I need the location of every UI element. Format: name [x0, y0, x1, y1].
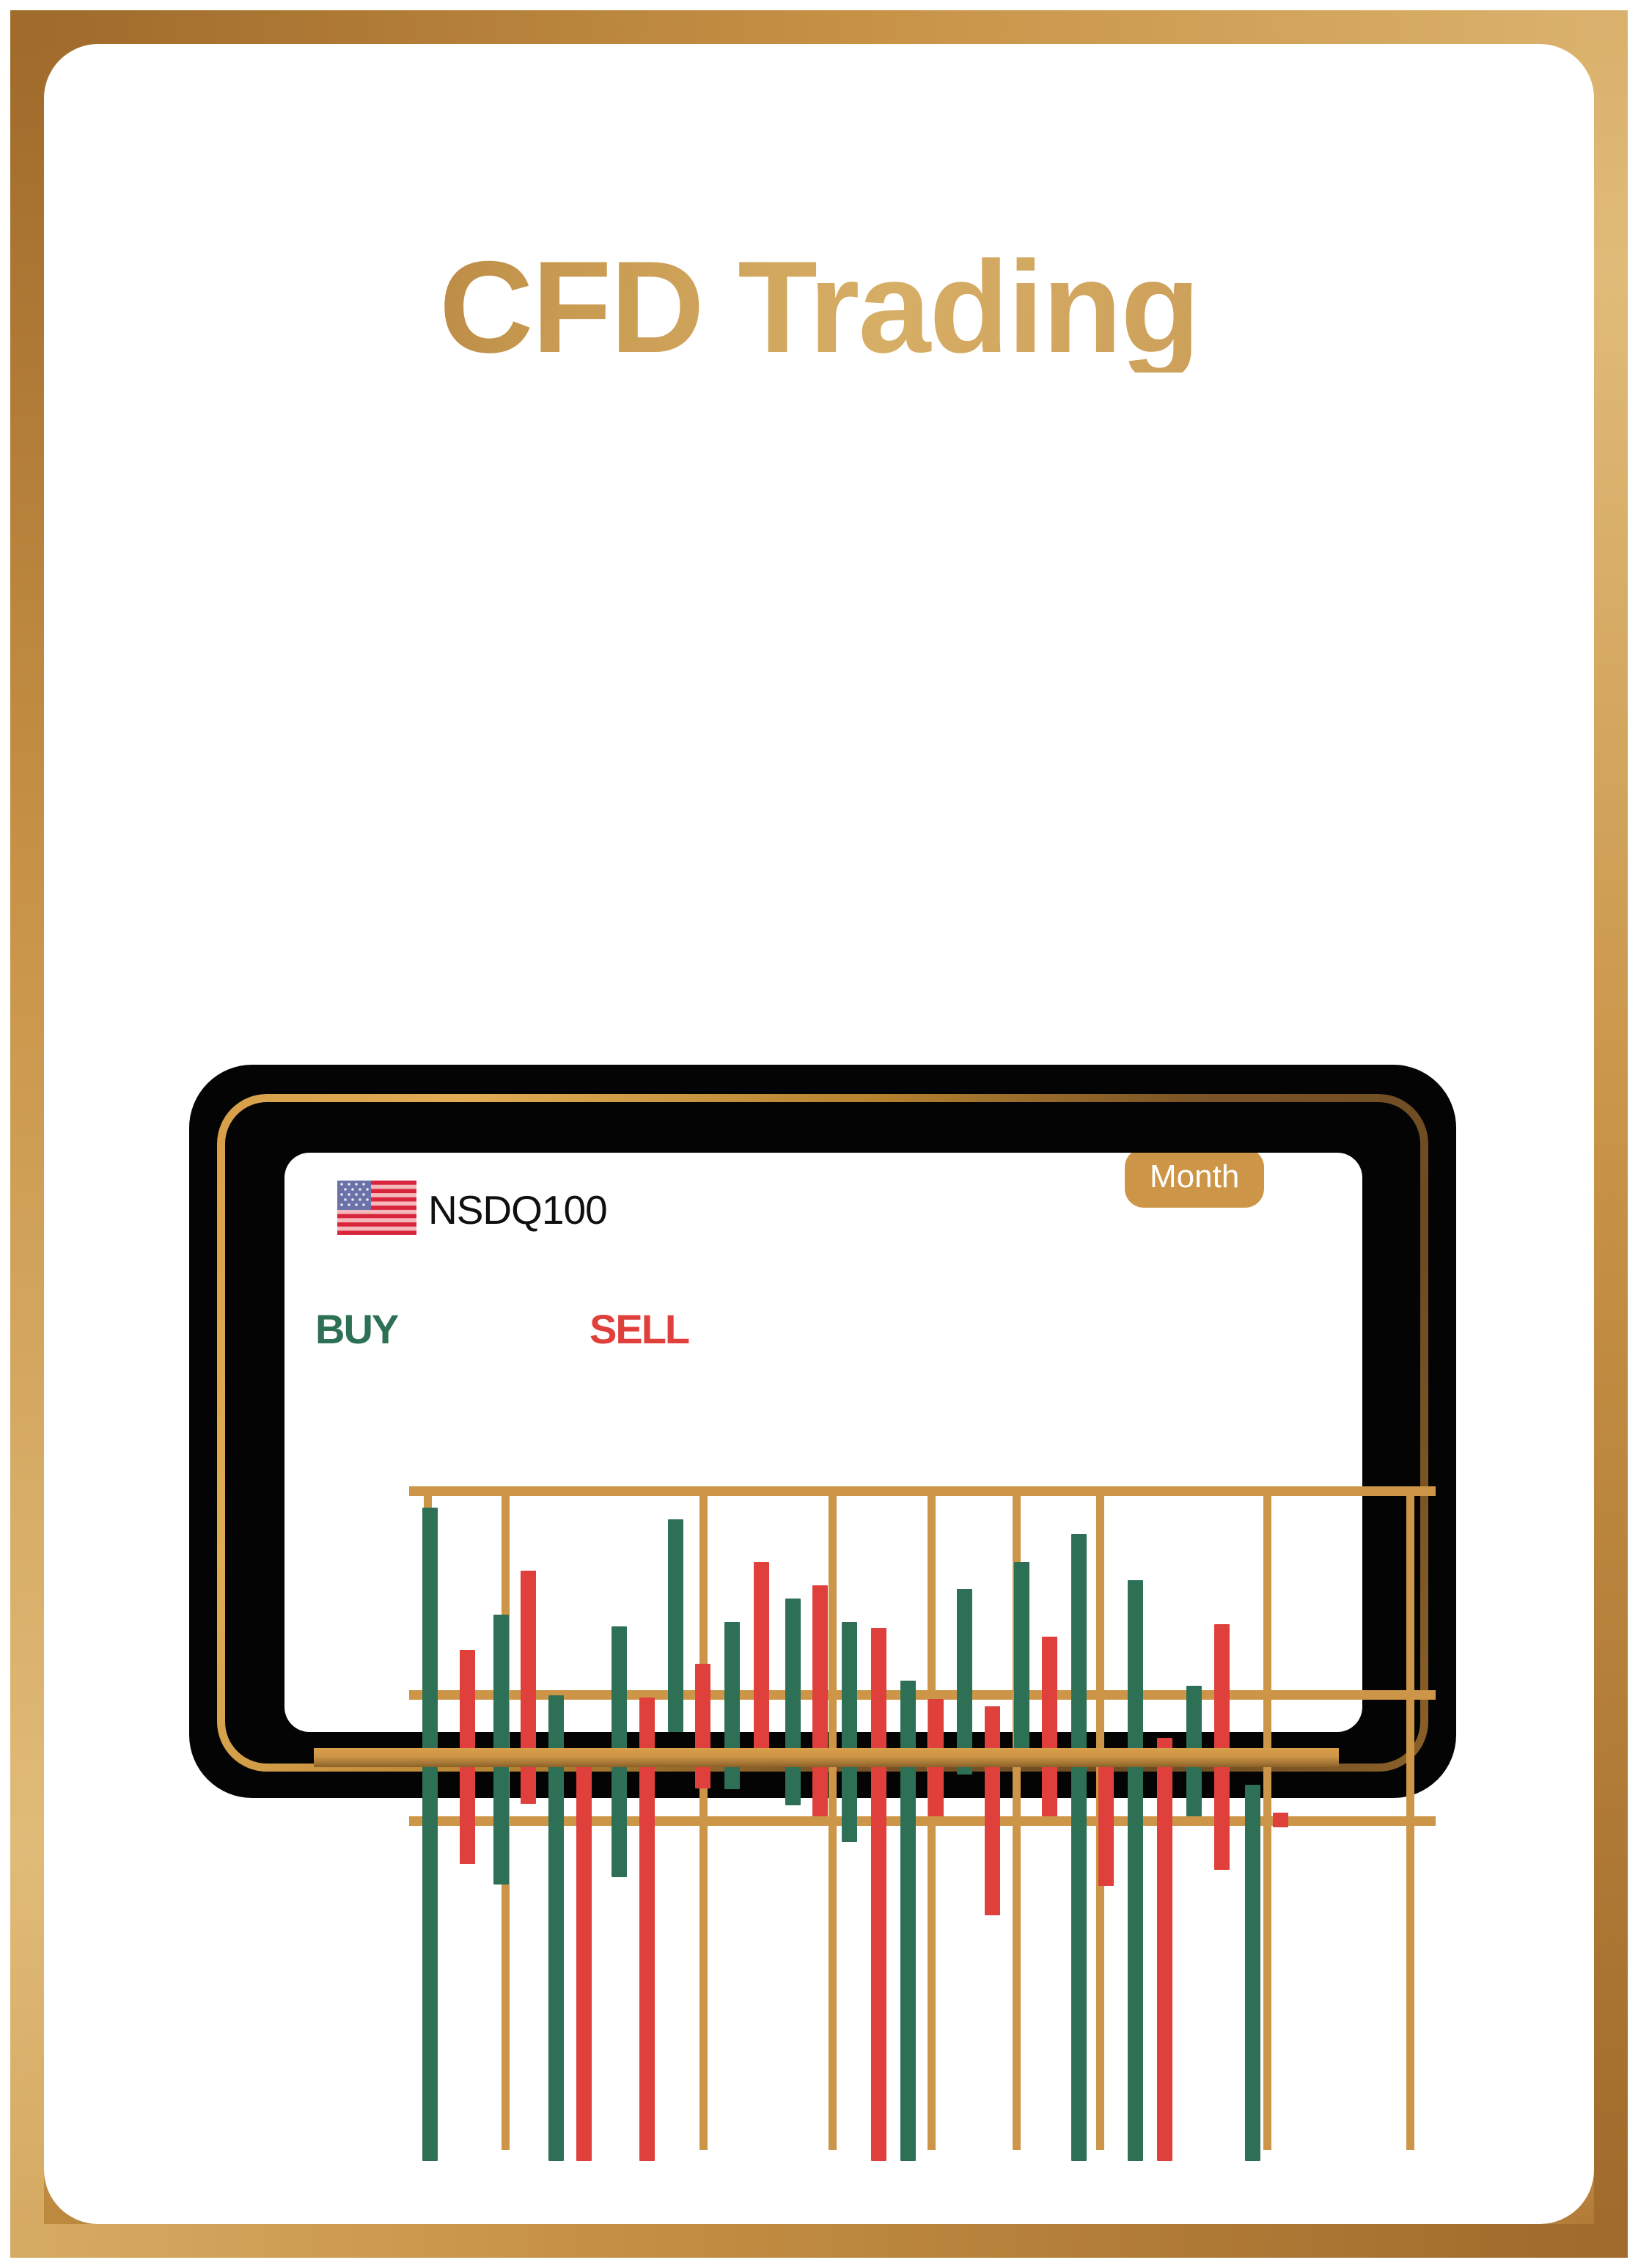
us-flag-icon — [337, 1181, 416, 1235]
tablet-screen: NSDQ100 Month BUY SELL — [284, 1153, 1362, 1732]
tablet-device: NSDQ100 Month BUY SELL — [189, 1065, 1456, 1798]
page-title: CFD Trading — [0, 242, 1638, 373]
tablet-bottom-rail — [314, 1748, 1339, 1767]
buy-button[interactable]: BUY — [315, 1305, 397, 1353]
timeframe-badge-month[interactable]: Month — [1125, 1153, 1264, 1208]
sell-button[interactable]: SELL — [590, 1305, 688, 1353]
instrument-symbol-label: NSDQ100 — [428, 1186, 607, 1233]
chart-header: NSDQ100 Month — [284, 1153, 1362, 1263]
